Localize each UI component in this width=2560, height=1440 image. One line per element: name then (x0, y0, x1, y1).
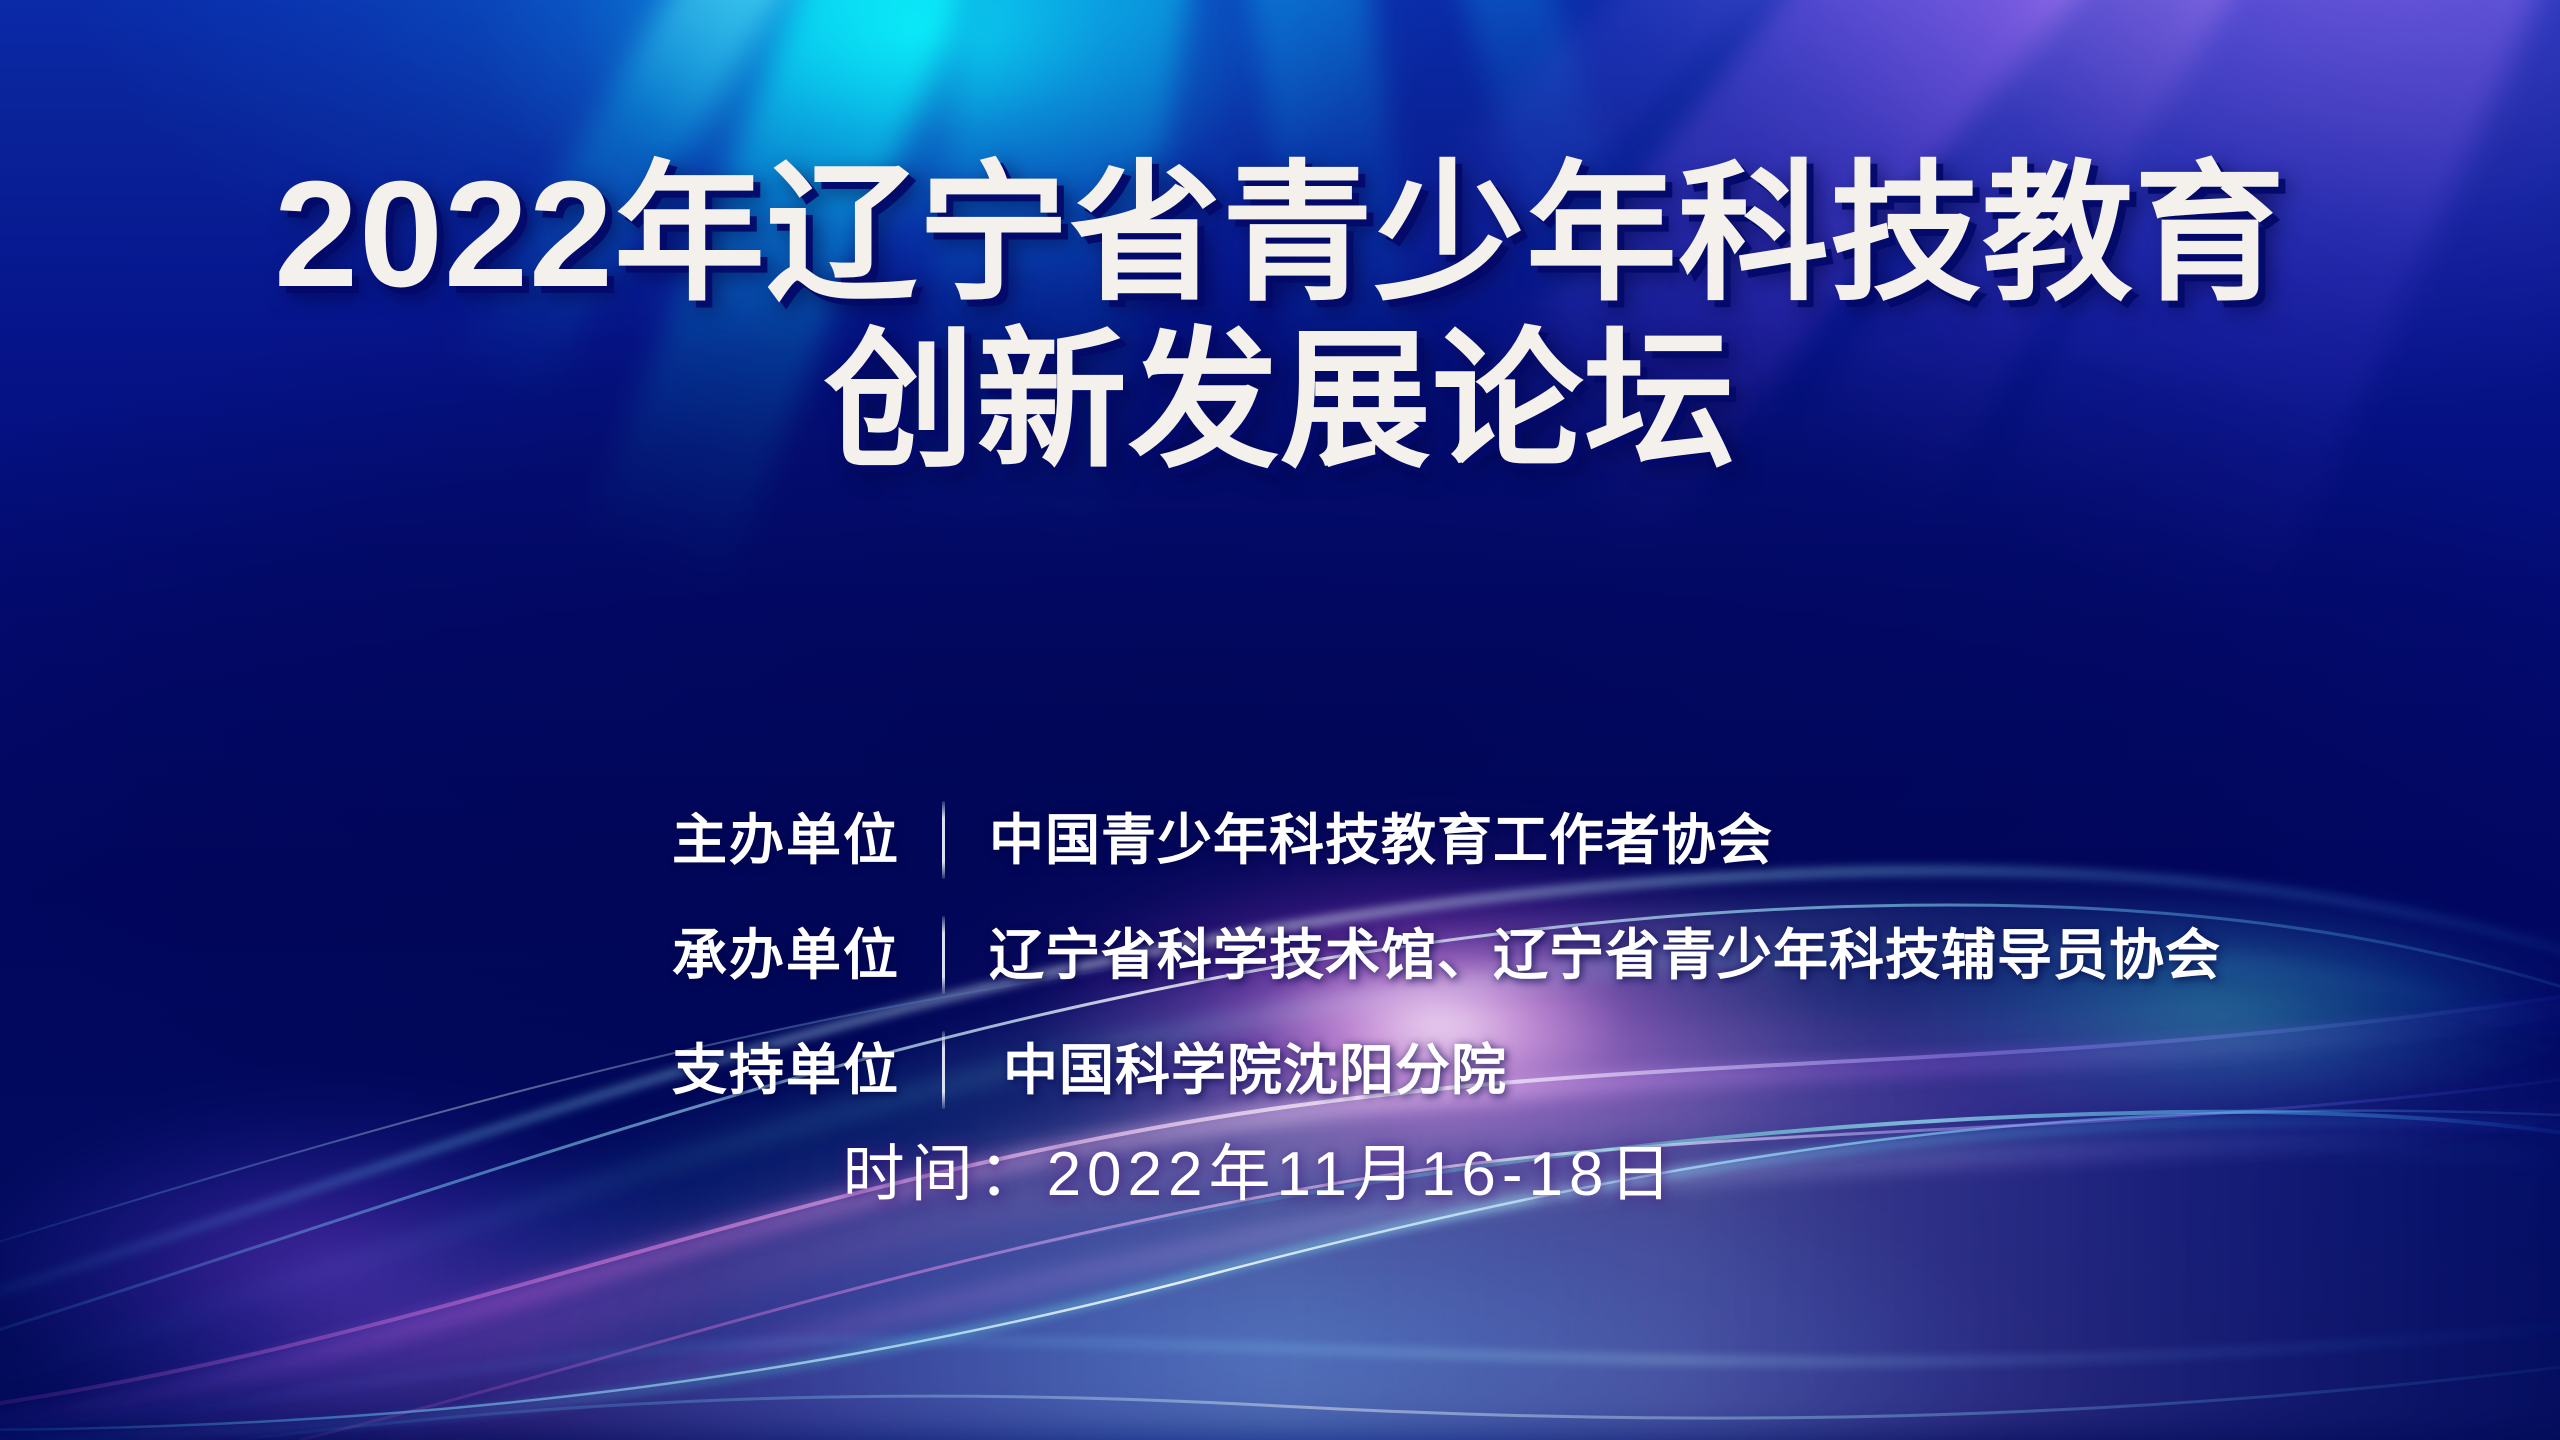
organizer-divider (942, 1031, 945, 1109)
organizer-row-host: 主办单位 中国青少年科技教育工作者协会 (672, 788, 2372, 892)
organizer-value-organizer: 辽宁省科学技术馆、辽宁省青少年科技辅导员协会 (989, 924, 2221, 986)
poster-title: 2022年辽宁省青少年科技教育 创新发展论坛 (0, 150, 2560, 484)
event-datetime-text: 时间：2022年11月16-18日 (843, 1138, 1678, 1212)
organizer-list: 主办单位 中国青少年科技教育工作者协会 承办单位 辽宁省科学技术馆、辽宁省青少年… (672, 788, 2372, 1122)
poster-content: 2022年辽宁省青少年科技教育 创新发展论坛 主办单位 中国青少年科技教育工作者… (0, 0, 2560, 1440)
title-line-2: 创新发展论坛 (0, 317, 2560, 484)
organizer-label-organizer: 承办单位 (672, 924, 942, 986)
organizer-label-supporter: 支持单位 (672, 1039, 942, 1101)
organizer-divider (942, 916, 945, 994)
organizer-label-host: 主办单位 (672, 809, 942, 871)
organizer-value-supporter: 中国科学院沈阳分院 (989, 1039, 1507, 1101)
conference-poster: 2022年辽宁省青少年科技教育 创新发展论坛 主办单位 中国青少年科技教育工作者… (0, 0, 2560, 1440)
title-line-1: 2022年辽宁省青少年科技教育 (0, 150, 2560, 317)
organizer-row-organizer: 承办单位 辽宁省科学技术馆、辽宁省青少年科技辅导员协会 (672, 903, 2372, 1007)
organizer-divider (942, 801, 945, 879)
organizer-value-host: 中国青少年科技教育工作者协会 (989, 809, 1773, 871)
organizer-row-supporter: 支持单位 中国科学院沈阳分院 (672, 1018, 2372, 1122)
event-datetime: 时间：2022年11月16-18日 (0, 1138, 2560, 1212)
